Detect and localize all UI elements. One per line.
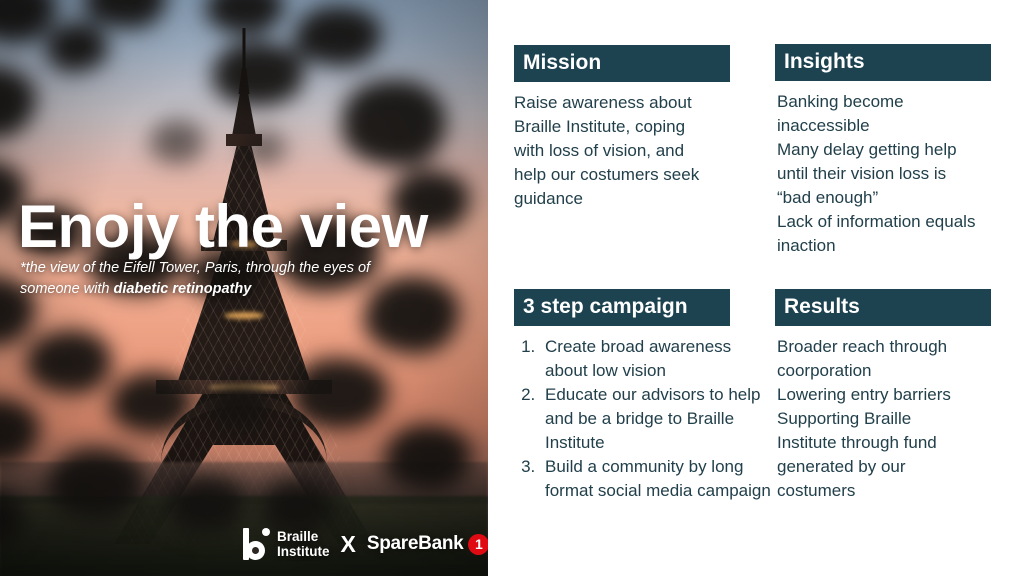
partnership-x-icon: X bbox=[341, 531, 356, 558]
card-results-line: Institute through fund bbox=[777, 431, 1017, 455]
card-insights-line: Banking become bbox=[777, 90, 1023, 114]
card-results-line: generated by our bbox=[777, 455, 1017, 479]
braille-b-mark-icon bbox=[243, 528, 270, 560]
card-results-line: Broader reach through bbox=[777, 335, 1017, 359]
card-steps-title: 3 step campaign bbox=[514, 289, 730, 326]
braille-institute-wordmark: Braille Institute bbox=[277, 529, 330, 559]
card-mission-line: Braille Institute, coping bbox=[514, 115, 754, 139]
tower-top-section bbox=[232, 92, 256, 136]
card-results-body: Broader reach through coorporation Lower… bbox=[775, 326, 1017, 504]
card-mission-title: Mission bbox=[514, 45, 730, 82]
card-mission-line: guidance bbox=[514, 187, 754, 211]
card-insights-body: Banking become inaccessible Many delay g… bbox=[775, 81, 1023, 259]
card-results-line: Lowering entry barriers bbox=[777, 383, 1017, 407]
hero-photo-panel: Enojy the view *the view of the Eifell T… bbox=[0, 0, 488, 576]
card-three-step-campaign: 3 step campaign Create broad awareness a… bbox=[514, 289, 730, 503]
sparebank-wordmark: SpareBank bbox=[367, 533, 464, 555]
card-mission-line: Raise awareness about bbox=[514, 91, 754, 115]
steps-list-item: Create broad awareness about low vision bbox=[540, 335, 778, 383]
braille-wordmark-line-2: Institute bbox=[277, 544, 330, 559]
card-insights-line: inaccessible bbox=[777, 114, 1023, 138]
steps-list-item: Educate our advisors to help and be a br… bbox=[540, 383, 778, 455]
card-results: Results Broader reach through coorporati… bbox=[775, 289, 991, 503]
card-insights-line: until their vision loss is bbox=[777, 162, 1023, 186]
card-mission-line: help our costumers seek bbox=[514, 163, 754, 187]
content-panel: Mission Raise awareness about Braille In… bbox=[488, 0, 1024, 576]
tower-mast-cap bbox=[239, 68, 250, 94]
card-mission: Mission Raise awareness about Braille In… bbox=[514, 45, 730, 211]
steps-list-item: Build a community by long format social … bbox=[540, 455, 778, 503]
sparebank-one-badge-icon: 1 bbox=[468, 534, 488, 555]
card-insights-title: Insights bbox=[775, 44, 991, 81]
card-mission-body: Raise awareness about Braille Institute,… bbox=[514, 82, 754, 212]
tower-light-glow-lower bbox=[208, 384, 280, 391]
sparebank-logo: SpareBank 1 bbox=[367, 533, 488, 555]
card-insights: Insights Banking become inaccessible Man… bbox=[775, 44, 991, 258]
card-insights-line: “bad enough” bbox=[777, 186, 1023, 210]
card-mission-line: with loss of vision, and bbox=[514, 139, 754, 163]
tower-antenna bbox=[243, 28, 246, 72]
partner-logo-lockup: Braille Institute X SpareBank 1 bbox=[243, 528, 488, 560]
card-results-line: coorporation bbox=[777, 359, 1017, 383]
card-results-line: Supporting Braille bbox=[777, 407, 1017, 431]
braille-wordmark-line-1: Braille bbox=[277, 529, 330, 544]
slide-canvas: Enojy the view *the view of the Eifell T… bbox=[0, 0, 1024, 576]
card-insights-line: inaction bbox=[777, 234, 1023, 258]
hero-caption: *the view of the Eifell Tower, Paris, th… bbox=[20, 258, 422, 299]
card-results-title: Results bbox=[775, 289, 991, 326]
card-insights-line: Many delay getting help bbox=[777, 138, 1023, 162]
steps-list: Create broad awareness about low vision … bbox=[514, 335, 778, 504]
card-insights-line: Lack of information equals bbox=[777, 210, 1023, 234]
braille-institute-logo: Braille Institute bbox=[243, 528, 330, 560]
tower-light-glow-middle bbox=[224, 312, 264, 319]
tower-observation-deck bbox=[226, 134, 262, 146]
card-results-line: costumers bbox=[777, 479, 1017, 503]
card-steps-body: Create broad awareness about low vision … bbox=[514, 326, 730, 504]
hero-headline: Enojy the view bbox=[18, 196, 428, 257]
hero-caption-emphasis: diabetic retinopathy bbox=[114, 281, 252, 297]
